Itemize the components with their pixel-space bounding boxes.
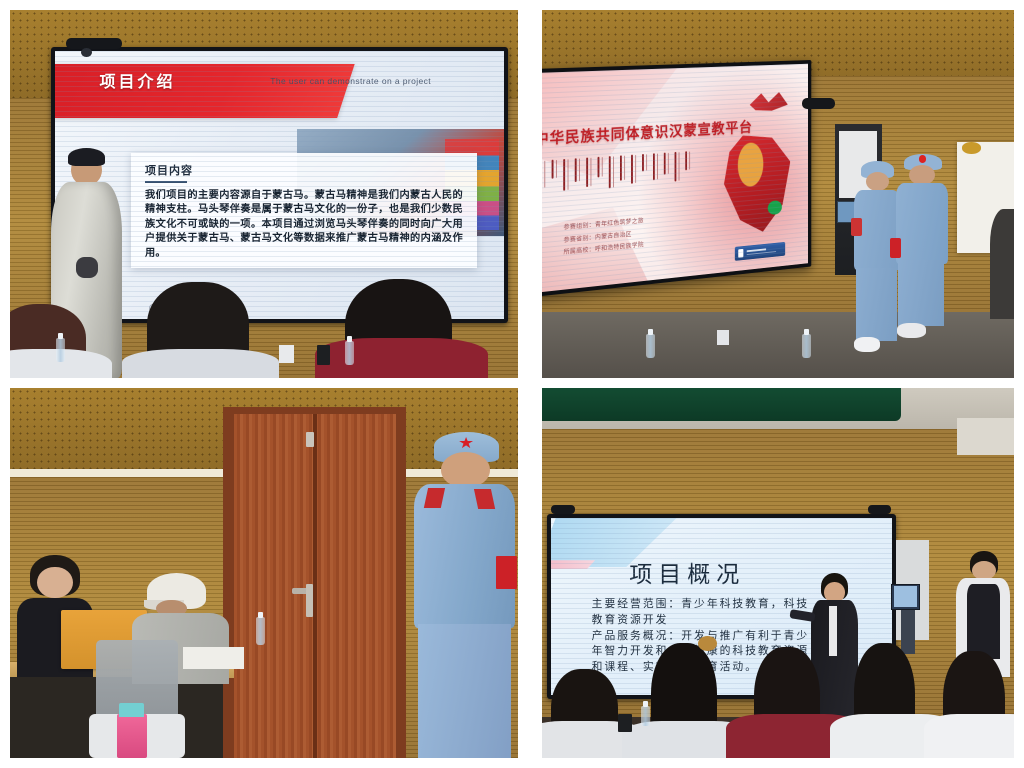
male-trousers [898, 260, 944, 326]
audience-shoulders-3 [315, 338, 488, 378]
slide-pink-accent [551, 560, 595, 569]
slide-info-badge [734, 242, 785, 261]
slide-header-title: 项目介绍 [100, 68, 176, 92]
slide-card-body: 我们项目的主要内容源自于蒙古马。蒙古马精神是我们内蒙古人民的精神支柱。马头琴伴奏… [145, 189, 463, 261]
female-shoes [854, 337, 879, 352]
female-trousers [856, 268, 897, 341]
slide-project-introduction: 项目介绍 The user can demonstrate on a proje… [55, 51, 504, 319]
door-center-seam [313, 414, 318, 758]
slide-title: 项目概况 [629, 555, 745, 589]
badge-icon [737, 249, 742, 258]
slide-title-platform: 中华民族共同体意识汉蒙宣教平台 参赛组别：青年红色筑梦之旅 参赛省别：内蒙古自治… [542, 64, 807, 293]
person-student-male [896, 154, 948, 338]
slide-ribbon-graphic [724, 133, 790, 236]
projection-screen: 中华民族共同体意识汉蒙宣教平台 参赛组别：青年红色筑梦之旅 参赛省别：内蒙古自治… [542, 60, 810, 297]
pink-bottle-cap [119, 703, 144, 718]
female-face [866, 172, 890, 191]
presenter-shirt [829, 606, 837, 656]
person-student-flag [416, 432, 513, 758]
china-dream-logo-icon [747, 90, 788, 112]
student-trousers [418, 624, 511, 757]
floor-box [317, 345, 329, 365]
display-surface: 项目介绍 The user can demonstrate on a proje… [55, 51, 504, 319]
photo-panel-top-left[interactable]: 项目介绍 The user can demonstrate on a proje… [10, 10, 518, 378]
photo-panel-bottom-left[interactable] [10, 388, 518, 758]
presenter-hat [68, 148, 105, 166]
audience-shoulders-2 [122, 349, 279, 378]
camera-bar-left [551, 505, 575, 515]
photo-collage: 项目介绍 The user can demonstrate on a proje… [0, 0, 1024, 768]
cart-stand [901, 610, 915, 654]
male-face [909, 165, 935, 185]
slide-content-card: 项目内容 我们项目的主要内容源自于蒙古马。蒙古马精神是我们内蒙古人民的精神支柱。… [131, 153, 477, 268]
student-face [441, 452, 489, 488]
person-far-right [990, 209, 1014, 319]
water-bottle-1 [646, 334, 655, 358]
presenter-hands [76, 257, 97, 278]
staff-vest [967, 584, 1000, 659]
water-bottle-2 [802, 334, 811, 358]
pink-bottle [117, 714, 147, 758]
wall-socket [279, 345, 294, 363]
slide-green-dot [767, 200, 781, 215]
handheld-flag [890, 238, 901, 258]
paper-stack [183, 647, 244, 669]
female-armband [851, 218, 862, 235]
slide-meta-list: 参赛组别：青年红色筑梦之旅 参赛省别：内蒙古自治区 所属高校：呼和浩特民族学院 [563, 215, 643, 260]
floor-box [618, 714, 632, 733]
ceiling-corner-panel [957, 418, 1014, 455]
slide-card-title: 项目内容 [145, 162, 477, 178]
male-shoes [897, 323, 926, 338]
poster-pin [962, 142, 981, 153]
photo-panel-bottom-right[interactable]: 项目概况 主要经营范围：青少年科技教育，科技 教育资源开发 产品服务概况：开发与… [542, 388, 1014, 758]
projection-surface: 中华民族共同体意识汉蒙宣教平台 参赛组别：青年红色筑梦之旅 参赛省别：内蒙古自治… [542, 64, 807, 293]
badge-text-lines [746, 246, 782, 255]
door-lock-plate [306, 584, 314, 617]
camera-bar [802, 98, 835, 109]
slide-card-rule [145, 181, 187, 183]
handheld-flag [496, 556, 517, 589]
cap-red-star-icon [919, 155, 926, 162]
water-bottle [641, 706, 650, 726]
staff-face [972, 561, 996, 580]
judge-female-face [37, 567, 73, 599]
camera-bar-right [868, 505, 892, 515]
cart-monitor-screen [894, 586, 918, 607]
door-lock-plate-top [306, 432, 314, 447]
slide-header-english: The user can demonstrate on a project [270, 76, 431, 86]
audience-shoulders-5 [924, 714, 1014, 758]
camera-bar [66, 38, 122, 50]
water-bottle-2 [345, 341, 354, 365]
photo-panel-top-right[interactable]: 中华民族共同体意识汉蒙宣教平台 参赛组别：青年红色筑梦之旅 参赛省别：内蒙古自治… [542, 10, 1014, 378]
water-bottle [256, 617, 265, 645]
wall-socket [717, 330, 729, 345]
ceiling-valance [542, 388, 901, 421]
male-jacket [896, 183, 948, 264]
water-bottle-1 [56, 338, 65, 362]
hair-tie [698, 636, 717, 651]
